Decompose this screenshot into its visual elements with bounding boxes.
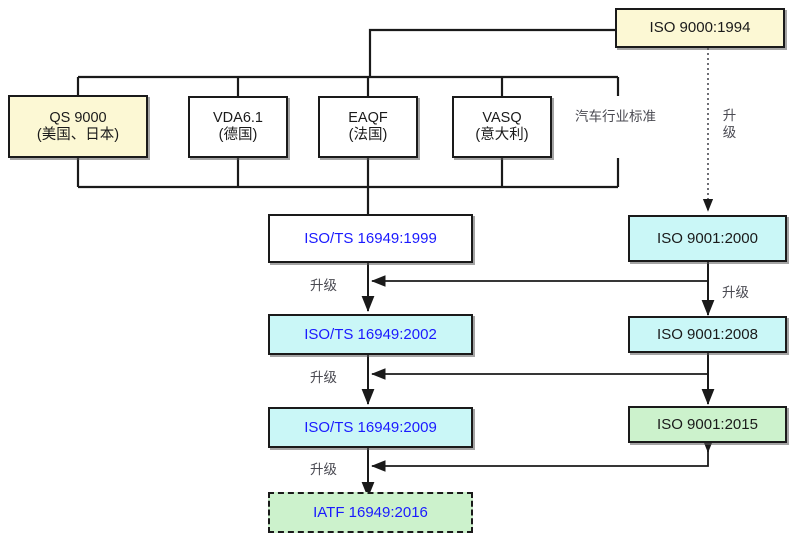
node-label-primary: ISO 9001:2015 [657, 416, 758, 433]
node-label-primary: VDA6.1 [213, 110, 263, 127]
node-isots-1999[interactable]: ISO/TS 16949:1999 [268, 214, 473, 263]
node-label-primary: ISO 9000:1994 [650, 19, 751, 36]
label-upgrade-center-2: 升级 [310, 366, 337, 386]
node-isots-2002[interactable]: ISO/TS 16949:2002 [268, 314, 473, 355]
wire-1994-to-automotive-bracket [370, 30, 615, 77]
node-label-primary: ISO 9001:2000 [657, 230, 758, 247]
node-iatf-2016[interactable]: IATF 16949:2016 [268, 492, 473, 533]
node-label-secondary: (德国) [219, 127, 258, 144]
node-label-primary: IATF 16949:2016 [313, 504, 428, 521]
label-upgrade-center-1: 升级 [310, 274, 337, 294]
node-vasq[interactable]: VASQ (意大利) [452, 96, 552, 158]
node-vda61[interactable]: VDA6.1 (德国) [188, 96, 288, 158]
node-label-primary: ISO/TS 16949:1999 [304, 230, 437, 247]
node-label-primary: ISO/TS 16949:2002 [304, 326, 437, 343]
node-iso9001-2000[interactable]: ISO 9001:2000 [628, 215, 787, 262]
node-isots-2009[interactable]: ISO/TS 16949:2009 [268, 407, 473, 448]
node-label-secondary: (美国、日本) [37, 127, 119, 144]
node-iso9000-1994[interactable]: ISO 9000:1994 [615, 8, 785, 48]
node-label-primary: EAQF [348, 110, 387, 127]
node-label-primary: QS 9000 [49, 110, 106, 127]
node-eaqf[interactable]: EAQF (法国) [318, 96, 418, 158]
node-label-secondary: (意大利) [475, 127, 528, 144]
node-label-secondary: (法国) [349, 127, 388, 144]
node-label-primary: ISO/TS 16949:2009 [304, 419, 437, 436]
wire-iso2015-to-iatf2016 [372, 448, 708, 466]
node-label-primary: VASQ [482, 110, 521, 127]
node-iso9001-2015[interactable]: ISO 9001:2015 [628, 406, 787, 443]
diagram-canvas: ISO 9000:1994 QS 9000 (美国、日本) VDA6.1 (德国… [0, 0, 800, 541]
connector-lines [0, 0, 800, 541]
node-label-primary: ISO 9001:2008 [657, 326, 758, 343]
label-upgrade-right-1: 升级 [722, 281, 749, 301]
label-upgrade-center-3: 升级 [310, 458, 337, 478]
node-qs9000[interactable]: QS 9000 (美国、日本) [8, 95, 148, 158]
node-iso9001-2008[interactable]: ISO 9001:2008 [628, 316, 787, 353]
label-upgrade-dotted-right: 升级 [722, 108, 737, 142]
label-industry-group: 汽车行业标准 [575, 105, 656, 125]
